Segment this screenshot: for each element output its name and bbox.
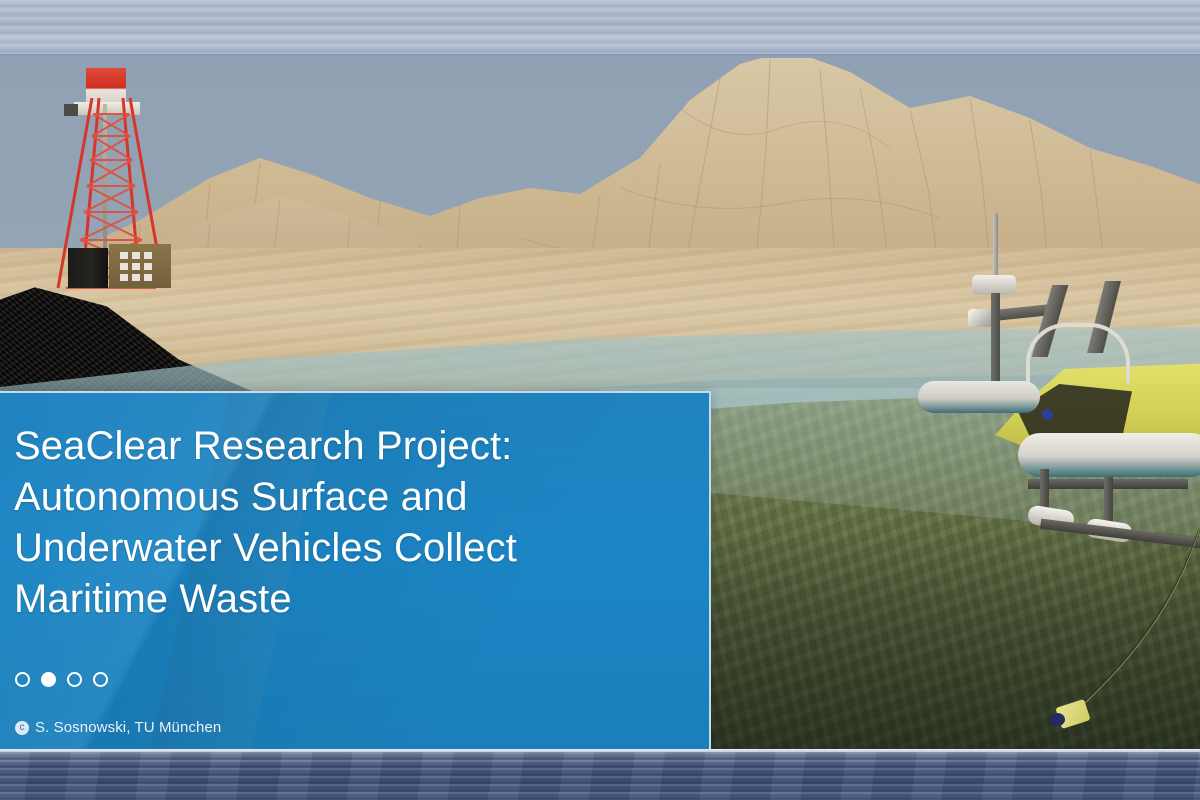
- rig-building-dark: [68, 248, 108, 288]
- oil-rig: [52, 68, 172, 293]
- sky-band: [0, 0, 1200, 58]
- carousel-dot-3[interactable]: [67, 672, 82, 687]
- asv-sensor-dome: [972, 275, 1016, 295]
- page-title: SeaClear Research Project: Autonomous Su…: [14, 421, 689, 625]
- asv-vessel: [890, 213, 1200, 543]
- carousel-dot-1[interactable]: [15, 672, 30, 687]
- slide-stage: SeaClear Research Project: Autonomous Su…: [0, 0, 1200, 800]
- water-surface-band: [0, 752, 1200, 800]
- carousel-dot-2[interactable]: [41, 672, 56, 687]
- asv-camera: [968, 309, 992, 327]
- rov-nose: [1050, 713, 1065, 726]
- caption-panel: SeaClear Research Project: Autonomous Su…: [0, 391, 711, 751]
- carousel-dot-4[interactable]: [93, 672, 108, 687]
- carousel-dots[interactable]: [15, 672, 108, 687]
- asv-guard-rail: [1026, 323, 1130, 383]
- credit-text: S. Sosnowski, TU München: [35, 719, 221, 736]
- rig-building-windows: [120, 252, 152, 281]
- rov-tether: [1050, 528, 1200, 728]
- asv-hull-port: [918, 381, 1040, 413]
- asv-indicator: [1042, 409, 1053, 420]
- copyright-icon: c: [15, 721, 29, 735]
- image-credit: c S. Sosnowski, TU München: [15, 719, 221, 736]
